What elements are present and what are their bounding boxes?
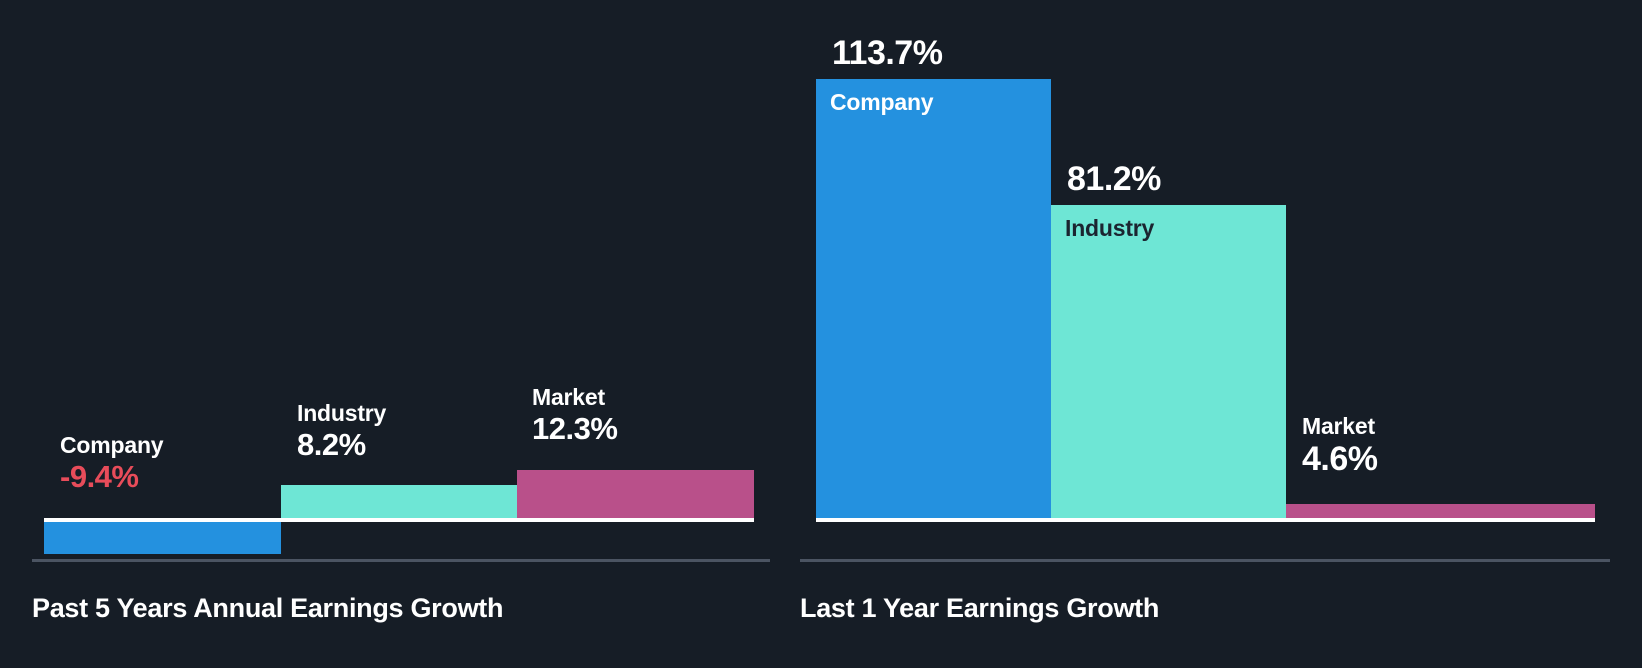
label-company-last-1-year: 113.7% [832,33,942,74]
plot-area-last-1-year: Company Industry 113.7% 81.2% Market 4.6… [800,0,1642,560]
label-industry-value: 8.2% [297,426,386,463]
label-company-past-5-years: Company -9.4% [60,432,163,496]
label-market-value: 12.3% [532,410,617,447]
label-market-name: Market [532,384,617,410]
chart-past-5-years: Company -9.4% Industry 8.2% Market 12.3%… [0,0,800,668]
bar-company-past-5-years[interactable] [44,520,281,554]
zero-line-past-5-years [44,518,754,522]
bar-industry-past-5-years[interactable] [281,485,517,520]
bar-industry-last-1-year[interactable]: Industry [1051,205,1286,520]
label-industry-last-1-year: 81.2% [1067,159,1161,200]
bar-market-past-5-years[interactable] [517,470,754,520]
axis-line-past-5-years [32,559,770,562]
label-market-name: Market [1302,413,1378,439]
plot-area-past-5-years: Company -9.4% Industry 8.2% Market 12.3% [0,0,800,560]
chart-title-past-5-years: Past 5 Years Annual Earnings Growth [32,593,503,624]
label-company-value: -9.4% [60,458,163,495]
label-company-value: 113.7% [832,33,942,74]
label-company-name: Company [60,432,163,458]
label-market-last-1-year: Market 4.6% [1302,413,1378,480]
label-industry-name: Industry [297,400,386,426]
zero-line-last-1-year [816,518,1595,522]
inbar-label-industry-last-1-year: Industry [1065,215,1154,242]
axis-line-last-1-year [800,559,1610,562]
bar-company-last-1-year[interactable]: Company [816,79,1051,520]
label-market-past-5-years: Market 12.3% [532,384,617,448]
label-market-value: 4.6% [1302,439,1378,480]
label-industry-value: 81.2% [1067,159,1161,200]
earnings-growth-comparison-figure: Company -9.4% Industry 8.2% Market 12.3%… [0,0,1642,668]
inbar-label-company-last-1-year: Company [830,89,933,116]
chart-title-last-1-year: Last 1 Year Earnings Growth [800,593,1159,624]
chart-last-1-year: Company Industry 113.7% 81.2% Market 4.6… [800,0,1642,668]
label-industry-past-5-years: Industry 8.2% [297,400,386,464]
